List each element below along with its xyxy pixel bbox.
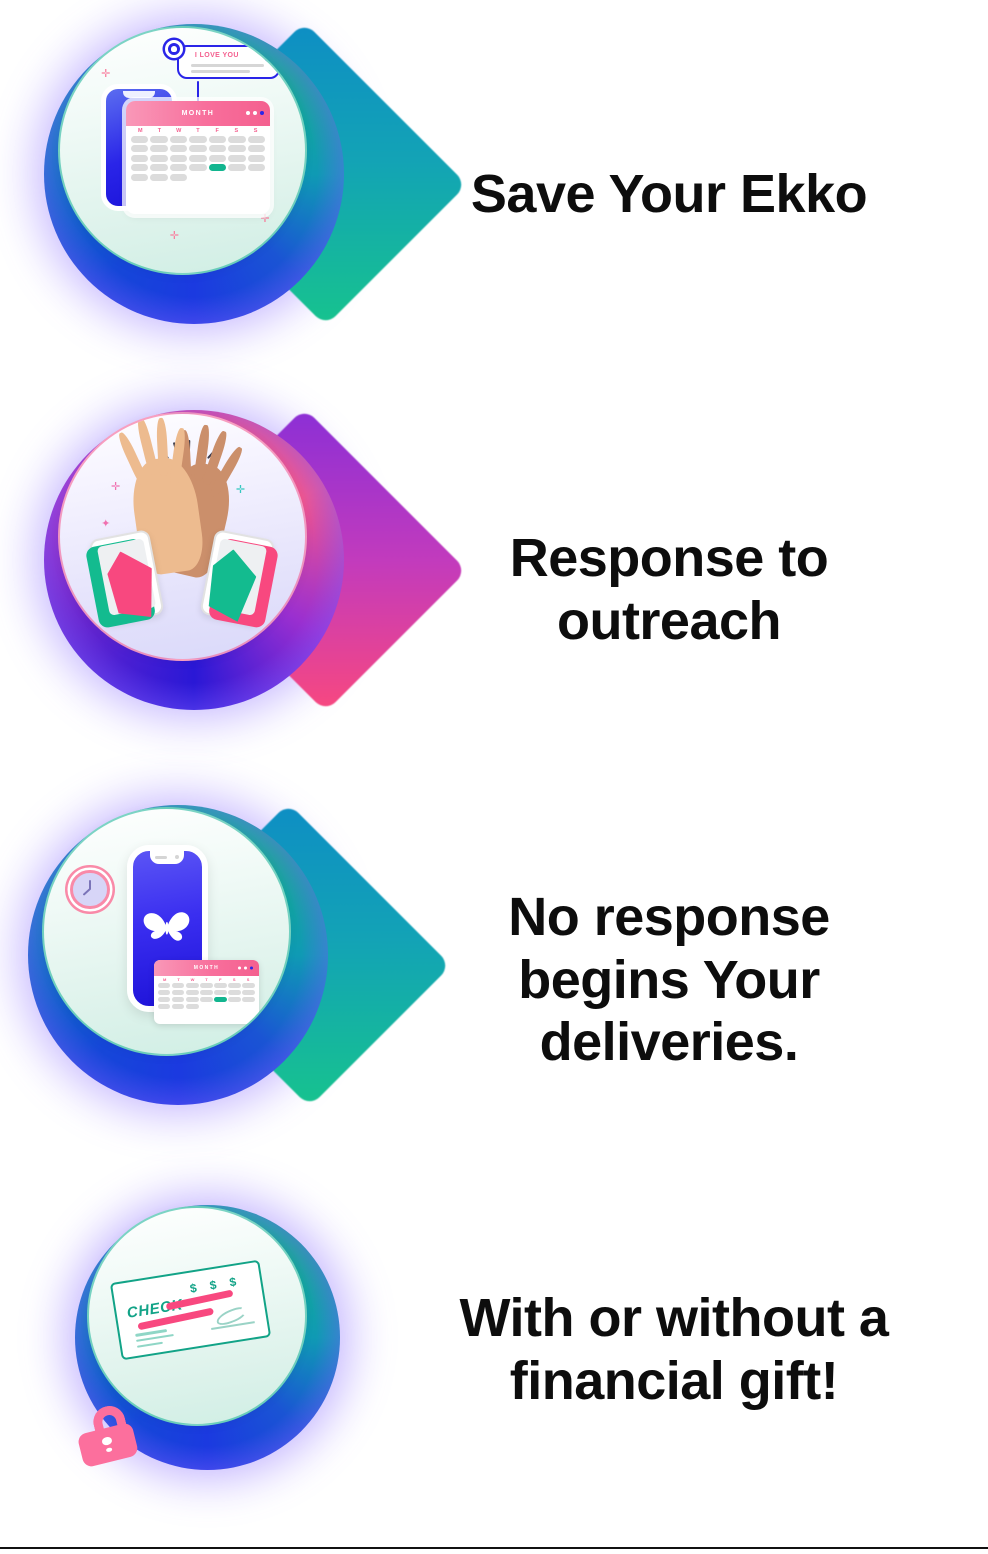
step-label-line: Save Your Ekko [430, 163, 908, 226]
day-header: T [199, 977, 213, 982]
illustration-column-4: CHECK $ $ $ [0, 1185, 430, 1515]
sparkle-icon: ✛ [101, 69, 110, 80]
sparkle-icon: ✦ [101, 519, 110, 530]
day-header: W [186, 977, 200, 982]
step-label-line: No response [430, 886, 908, 949]
step-label-1: Save Your Ekko [430, 163, 908, 226]
step-label-line: begins Your [430, 949, 908, 1012]
badge-1: ✛ ✛ ✛ ✛ I LOVE YOU [44, 24, 344, 324]
calendar-header: MONTH [154, 960, 259, 975]
badge-4: CHECK $ $ $ [75, 1205, 340, 1470]
badge-face: ✛ ✛ ✛ ✛ I LOVE YOU [58, 26, 307, 275]
step-label-2: Response to outreach [430, 527, 908, 652]
step-text-column-1: Save Your Ekko [430, 163, 988, 226]
step-row-3: MONTH M T W T F S S [0, 795, 988, 1165]
message-card: I LOVE YOU [177, 45, 280, 79]
day-header: T [150, 128, 169, 134]
day-header: F [213, 977, 227, 982]
badge-2: ✛ ✛ ✦ [44, 410, 344, 710]
padlock-icon [80, 1406, 136, 1462]
day-header: W [169, 128, 188, 134]
message-text-line [191, 64, 264, 67]
day-header: S [241, 977, 255, 982]
butterfly-icon [138, 891, 196, 962]
badge-face: ✛ ✛ ✦ [58, 412, 307, 661]
bottom-divider [0, 1547, 988, 1549]
sparkle-icon: ✛ [111, 482, 120, 493]
calendar-day-headers: M T W T F S S [126, 126, 271, 135]
day-header: S [227, 128, 246, 134]
step-text-column-2: Response to outreach [430, 527, 988, 652]
badge-face: CHECK $ $ $ [87, 1206, 307, 1426]
calendar-grid [154, 982, 259, 1012]
day-header: T [172, 977, 186, 982]
check-memo-line [136, 1342, 163, 1349]
padlock-body [77, 1421, 139, 1468]
sparkle-icon: ✛ [260, 214, 269, 225]
clock-icon [70, 870, 109, 909]
calendar-day-headers: M T W T F S S [154, 976, 259, 982]
step-label-line: deliveries. [430, 1011, 908, 1074]
calendar-grid [126, 135, 271, 182]
phone-notch [150, 851, 184, 863]
calendar-message-illustration: ✛ ✛ ✛ ✛ I LOVE YOU [60, 28, 305, 273]
step-row-2: ✛ ✛ ✦ [0, 410, 988, 770]
badge-3: MONTH M T W T F S S [28, 805, 328, 1105]
gear-icon [264, 53, 273, 62]
sparkle-icon: ✛ [170, 231, 179, 242]
signature-icon [209, 1307, 255, 1330]
day-header: S [246, 128, 265, 134]
step-label-4: With or without a financial gift! [430, 1287, 918, 1412]
step-label-line: With or without a [430, 1287, 918, 1350]
calendar-status-dots-icon [238, 967, 253, 970]
check-document: CHECK $ $ $ [110, 1260, 271, 1360]
illustration-column-1: ✛ ✛ ✛ ✛ I LOVE YOU [0, 0, 430, 394]
day-header: M [131, 128, 150, 134]
illustration-column-3: MONTH M T W T F S S [0, 780, 430, 1180]
sparkle-icon: ✛ [236, 485, 245, 496]
step-label-3: No response begins Your deliveries. [430, 886, 908, 1074]
step-text-column-4: With or without a financial gift! [430, 1287, 988, 1412]
step-row-4: CHECK $ $ $ [0, 1180, 988, 1520]
step-text-column-3: No response begins Your deliveries. [430, 886, 988, 1074]
high-five-phones-illustration: ✛ ✛ ✦ [60, 414, 305, 659]
message-title: I LOVE YOU [195, 52, 239, 59]
illustration-column-2: ✛ ✛ ✦ [0, 390, 430, 790]
day-header: S [227, 977, 241, 982]
calendar-widget: MONTH M T W T F S S [154, 960, 259, 1024]
day-header: F [208, 128, 227, 134]
step-label-line: Response to [430, 527, 908, 590]
calendar-month-label: MONTH [182, 110, 215, 117]
butterfly-phone-clock-illustration: MONTH M T W T F S S [44, 809, 289, 1054]
calendar-widget: MONTH M T W T F S S [126, 101, 271, 214]
step-label-line: outreach [430, 590, 908, 653]
calendar-status-dots-icon [246, 111, 264, 115]
calendar-month-label: MONTH [194, 965, 219, 971]
day-header: T [188, 128, 207, 134]
page-root: ✛ ✛ ✛ ✛ I LOVE YOU [0, 0, 988, 1554]
step-row-1: ✛ ✛ ✛ ✛ I LOVE YOU [0, 14, 988, 374]
calendar-header: MONTH [126, 101, 271, 126]
day-header: M [158, 977, 172, 982]
badge-face: MONTH M T W T F S S [42, 807, 291, 1056]
step-label-line: financial gift! [430, 1350, 918, 1413]
message-text-line [191, 70, 250, 73]
check-padlock-illustration: CHECK $ $ $ [89, 1208, 305, 1424]
